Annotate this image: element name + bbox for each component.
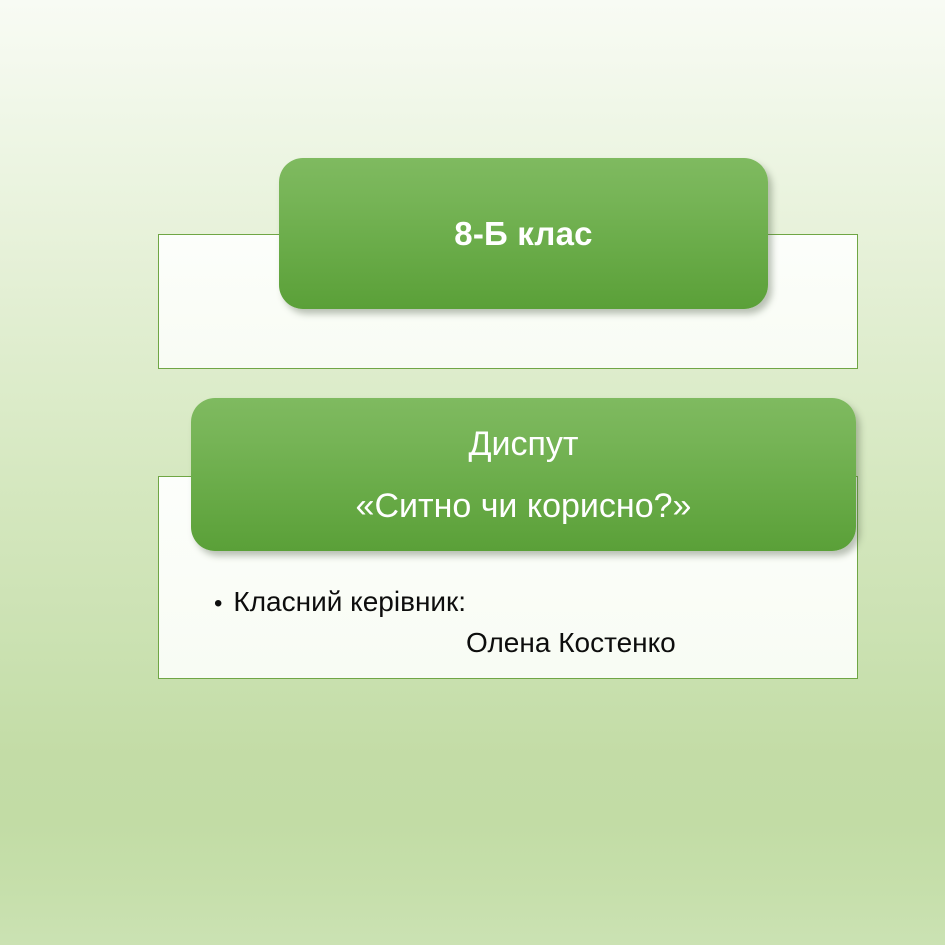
presenter-name: Олена Костенко xyxy=(466,622,676,663)
bullet-item-label: Класний керівник: xyxy=(233,581,466,622)
presentation-slide: • Класний керівник: Олена Костенко 8-Б к… xyxy=(0,0,945,945)
bullet-list-item: • Класний керівник: xyxy=(214,581,466,624)
topic-line-2: «Ситно чи корисно?» xyxy=(356,475,692,537)
topic-line-1: Диспут xyxy=(468,413,578,475)
class-name-text: 8-Б клас xyxy=(454,215,592,253)
topic-callout: Диспут «Ситно чи корисно?» xyxy=(191,398,856,551)
bullet-point-icon: • xyxy=(214,583,222,624)
class-name-callout: 8-Б клас xyxy=(279,158,768,309)
